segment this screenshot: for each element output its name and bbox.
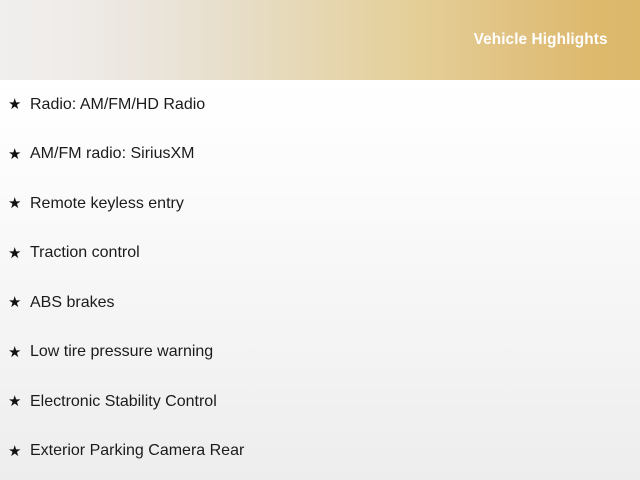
list-item-label: AM/FM radio: SiriusXM [30, 145, 640, 163]
list-item: ★ Low tire pressure warning [0, 328, 640, 378]
star-icon: ★ [8, 196, 30, 211]
list-item: ★ Electronic Stability Control [0, 377, 640, 427]
star-icon: ★ [8, 295, 30, 310]
list-item-label: Electronic Stability Control [30, 393, 640, 411]
list-item-label: Traction control [30, 244, 640, 262]
list-item-label: Low tire pressure warning [30, 343, 640, 361]
vehicle-highlights-page: Vehicle Highlights ★ Radio: AM/FM/HD Rad… [0, 0, 640, 480]
list-item: ★ Remote keyless entry [0, 179, 640, 229]
star-icon: ★ [8, 444, 30, 459]
star-icon: ★ [8, 246, 30, 261]
header-banner: Vehicle Highlights [0, 0, 640, 80]
page-title: Vehicle Highlights [474, 32, 608, 48]
list-item: ★ ABS brakes [0, 278, 640, 328]
star-icon: ★ [8, 394, 30, 409]
list-item: ★ AM/FM radio: SiriusXM [0, 130, 640, 180]
list-item: ★ Radio: AM/FM/HD Radio [0, 80, 640, 130]
star-icon: ★ [8, 345, 30, 360]
list-item-label: Radio: AM/FM/HD Radio [30, 96, 640, 114]
list-item-label: ABS brakes [30, 294, 640, 312]
vehicle-highlights-list: ★ Radio: AM/FM/HD Radio ★ AM/FM radio: S… [0, 80, 640, 480]
list-item-label: Remote keyless entry [30, 195, 640, 213]
list-item: ★ Traction control [0, 229, 640, 279]
list-item: ★ Exterior Parking Camera Rear [0, 427, 640, 477]
list-item-label: Exterior Parking Camera Rear [30, 442, 640, 460]
star-icon: ★ [8, 147, 30, 162]
star-icon: ★ [8, 97, 30, 112]
